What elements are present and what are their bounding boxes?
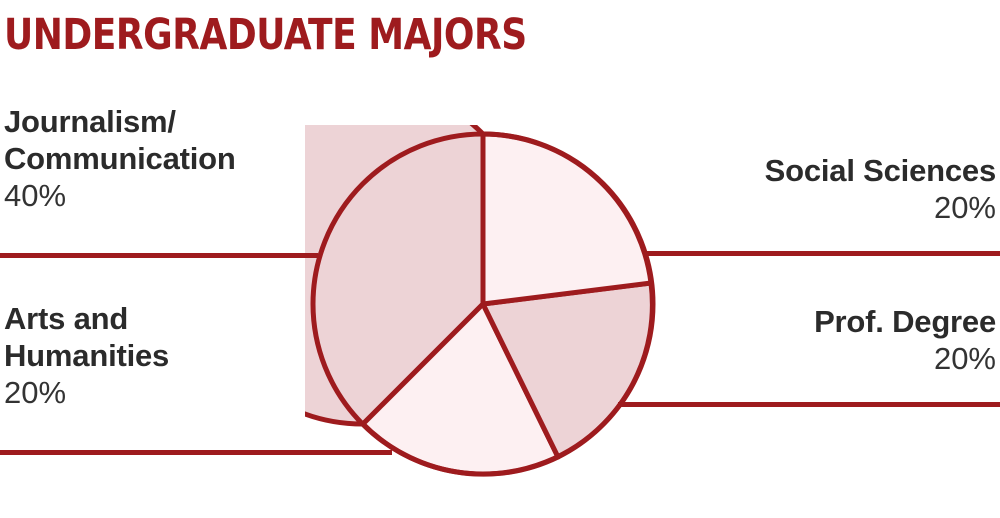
pie-label-social-sciences-percent: 20% [765,189,996,227]
pie-label-arts-name: Arts and Humanities [4,300,169,374]
pie-label-arts-percent: 20% [4,374,169,412]
pie-label-social-sciences: Social Sciences 20% [765,152,996,227]
pie-chart [305,125,665,485]
pie-slice-social[interactable] [483,134,651,304]
page-title: UNDERGRADUATE MAJORS [4,12,527,58]
pie-chart-svg [305,125,665,485]
infographic-canvas: UNDERGRADUATE MAJORS Journalism/ Communi… [0,0,1000,518]
pie-label-journalism-percent: 40% [4,177,236,215]
callout-rule-prof [618,402,1000,407]
pie-label-prof-degree-percent: 20% [814,340,996,378]
pie-label-social-sciences-name: Social Sciences [765,152,996,189]
pie-label-prof-degree-name: Prof. Degree [814,303,996,340]
pie-label-arts: Arts and Humanities 20% [4,300,169,412]
pie-label-prof-degree: Prof. Degree 20% [814,303,996,378]
callout-rule-arts [0,450,392,455]
callout-rule-social [646,251,1000,256]
pie-label-journalism-name: Journalism/ Communication [4,103,236,177]
callout-rule-journalism [0,253,318,258]
pie-label-journalism: Journalism/ Communication 40% [4,103,236,215]
